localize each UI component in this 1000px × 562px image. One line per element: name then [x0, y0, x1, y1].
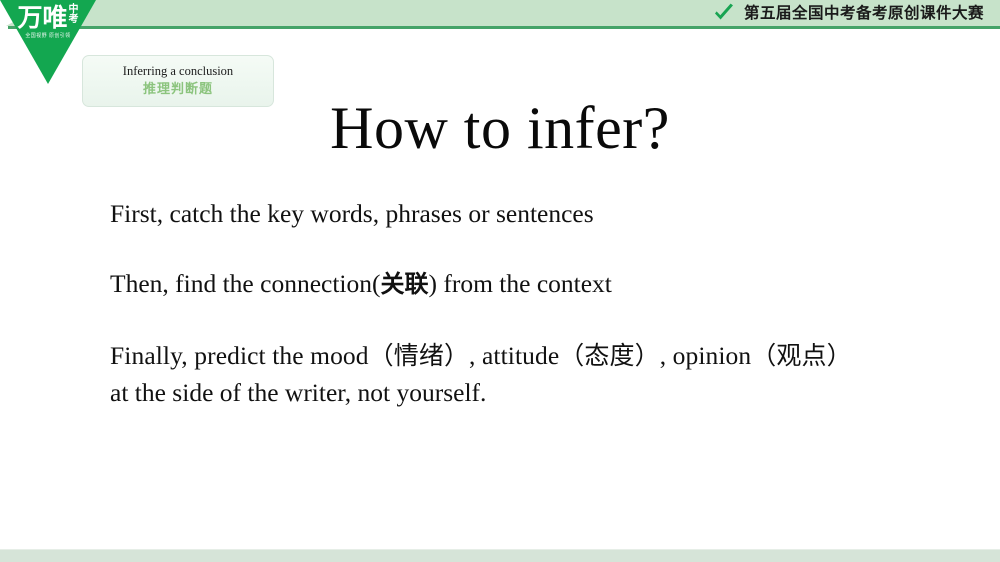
slide-canvas: 第五届全国中考备考原创课件大赛 万唯中考 全国视野 原创引领 Inferring…: [0, 0, 1000, 562]
bottom-bar: [0, 550, 1000, 562]
brand-logo-tagline: 全国视野 原创引领: [0, 33, 96, 40]
paragraph-3-gloss-opinion: （观点）: [751, 341, 851, 370]
topic-badge-english: Inferring a conclusion: [123, 64, 233, 79]
paragraph-3-seg-c: , opinion: [660, 341, 752, 370]
banner-title: 第五届全国中考备考原创课件大赛: [744, 0, 984, 26]
paragraph-3-gloss-attitude: （态度）: [559, 341, 659, 370]
paragraph-3-gloss-mood: （情绪）: [369, 341, 469, 370]
paragraph-3-line-2: at the side of the writer, not yourself.: [110, 375, 970, 411]
paragraph-2-prefix: Then, find the connection(: [110, 269, 381, 298]
brand-logo-sup: 中考: [69, 5, 79, 25]
paragraph-2-chinese-gloss: 关联: [381, 270, 429, 298]
banner-content: 第五届全国中考备考原创课件大赛: [713, 0, 984, 26]
body-paragraph-1: First, catch the key words, phrases or s…: [110, 196, 970, 232]
body-paragraph-2: Then, find the connection(关联) from the c…: [110, 266, 970, 302]
page-title: How to infer?: [0, 92, 1000, 164]
brand-logo-sup-bottom: 考: [69, 15, 79, 25]
brand-logo-sup-top: 中: [69, 5, 79, 15]
body-paragraph-3: Finally, predict the mood（情绪）, attitude（…: [110, 338, 970, 411]
body-content: First, catch the key words, phrases or s…: [110, 196, 970, 411]
paragraph-2-suffix: ) from the context: [429, 269, 612, 298]
paragraph-3-seg-a: Finally, predict the mood: [110, 341, 369, 370]
check-icon: [713, 3, 735, 23]
top-banner-rule: [8, 26, 1000, 29]
brand-logo-inner: 万唯中考 全国视野 原创引领: [0, 4, 96, 40]
paragraph-3-line-1: Finally, predict the mood（情绪）, attitude（…: [110, 338, 970, 374]
paragraph-3-seg-b: , attitude: [469, 341, 559, 370]
brand-logo-main-text: 万唯: [17, 4, 67, 32]
